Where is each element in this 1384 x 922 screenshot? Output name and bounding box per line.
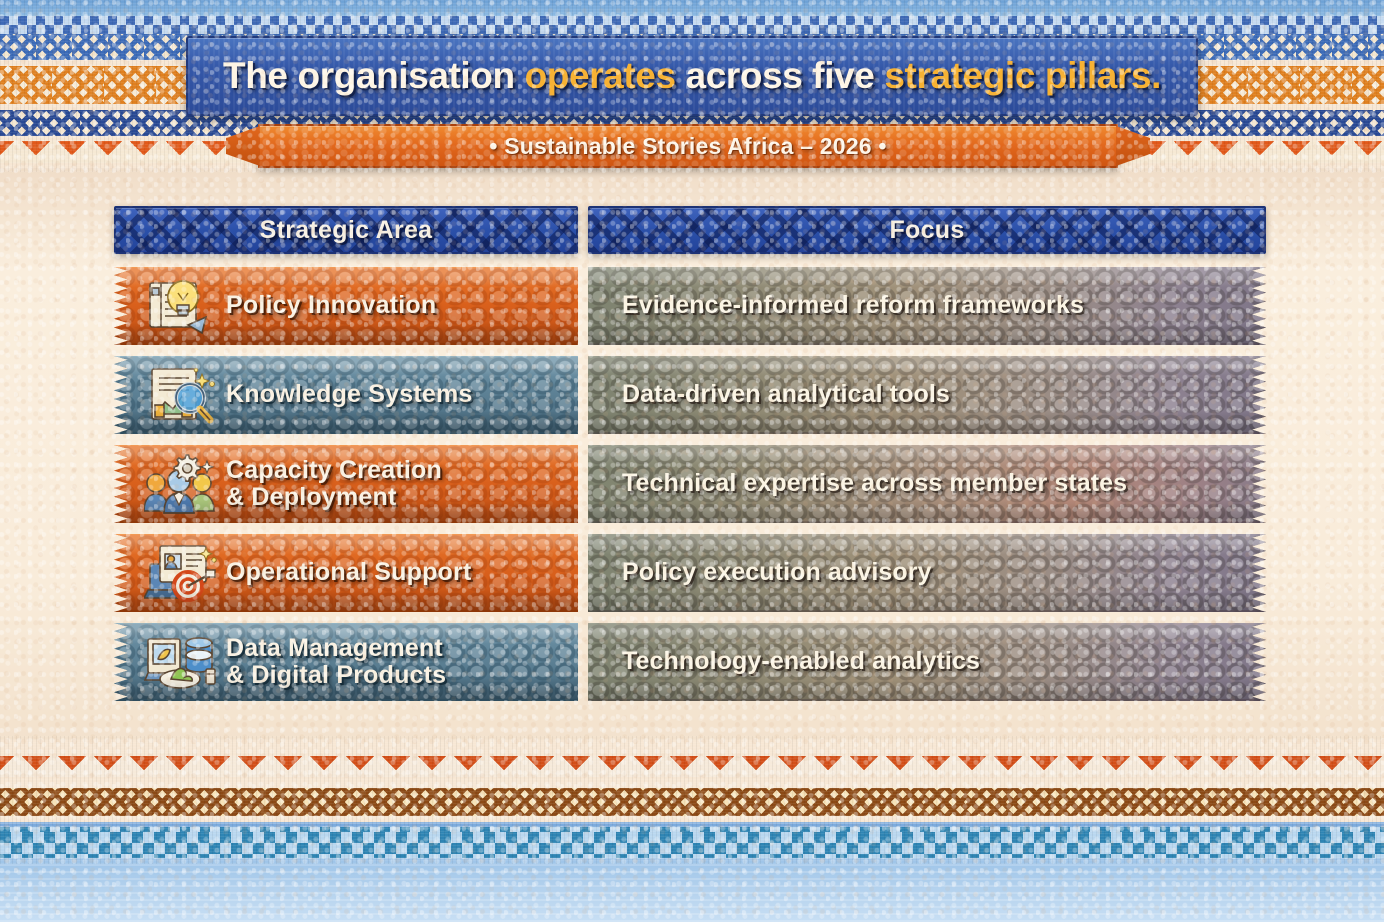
monitor-target-icon	[144, 542, 220, 604]
focus-cell-4[interactable]: Policy execution advisory	[588, 534, 1266, 612]
table-header-row: Strategic Area Focus	[114, 206, 1266, 254]
column-header-focus: Focus	[588, 206, 1266, 254]
focus-label: Policy execution advisory	[622, 558, 932, 587]
strategic-area-label-line1: Capacity Creation	[226, 457, 442, 483]
table-body: Policy InnovationEvidence-informed refor…	[114, 267, 1266, 701]
page-title-segment-1: operates	[525, 55, 676, 96]
focus-label: Technical expertise across member states	[622, 469, 1127, 498]
strategic-area-cell-2[interactable]: Knowledge Systems	[114, 356, 578, 434]
strategic-area-label: Policy Innovation	[226, 292, 436, 318]
people-gear-icon	[144, 453, 220, 515]
focus-cell-3[interactable]: Technical expertise across member states	[588, 445, 1266, 523]
pillars-table: Strategic Area Focus Policy InnovationEv…	[114, 206, 1266, 712]
document-lightbulb-icon	[144, 275, 220, 337]
slide-canvas: The organisation operates across five st…	[0, 0, 1384, 922]
focus-cell-2[interactable]: Data-driven analytical tools	[588, 356, 1266, 434]
table-row: Data Management& Digital ProductsTechnol…	[114, 623, 1266, 701]
strategic-area-label: Capacity Creation& Deployment	[226, 457, 442, 510]
ornament-band-diamond-blue	[0, 16, 1384, 34]
strategic-area-label-line1: Data Management	[226, 635, 446, 661]
column-header-strategic-area: Strategic Area	[114, 206, 578, 254]
focus-label: Technology-enabled analytics	[622, 647, 980, 676]
table-row: Capacity Creation& DeploymentTechnical e…	[114, 445, 1266, 523]
subtitle-banner: • Sustainable Stories Africa – 2026 •	[258, 124, 1118, 168]
subtitle-text: • Sustainable Stories Africa – 2026 •	[489, 133, 886, 160]
ornament-bottom-lightblue-line	[0, 736, 1384, 743]
ornament-bottom-triangles-orange	[0, 756, 1384, 777]
ornament-bottom-chevron-brown-gold	[0, 788, 1384, 816]
tablet-database-icon	[144, 631, 220, 693]
focus-cell-1[interactable]: Evidence-informed reform frameworks	[588, 267, 1266, 345]
focus-label: Data-driven analytical tools	[622, 380, 950, 409]
strategic-area-cell-4[interactable]: Operational Support	[114, 534, 578, 612]
focus-cell-5[interactable]: Technology-enabled analytics	[588, 623, 1266, 701]
strategic-area-cell-3[interactable]: Capacity Creation& Deployment	[114, 445, 578, 523]
focus-label: Evidence-informed reform frameworks	[622, 291, 1084, 320]
title-banner: The organisation operates across five st…	[186, 36, 1198, 116]
page-title-segment-0: The organisation	[223, 55, 525, 96]
footer-blue-line	[0, 858, 1384, 864]
page-title-segment-2: across five	[676, 55, 885, 96]
column-header-focus-label: Focus	[889, 216, 964, 245]
strategic-area-label: Knowledge Systems	[226, 381, 473, 407]
strategic-area-label: Operational Support	[226, 559, 471, 585]
strategic-area-cell-1[interactable]: Policy Innovation	[114, 267, 578, 345]
strategic-area-label-line2: & Deployment	[226, 484, 442, 510]
column-header-strategic-area-label: Strategic Area	[260, 216, 433, 245]
ornament-bottom-blue-line	[0, 743, 1384, 751]
page-title-segment-3: strategic pillars.	[884, 55, 1161, 96]
strategic-area-label: Data Management& Digital Products	[226, 635, 446, 688]
table-row: Operational SupportPolicy execution advi…	[114, 534, 1266, 612]
table-row: Knowledge SystemsData-driven analytical …	[114, 356, 1266, 434]
strategic-area-cell-5[interactable]: Data Management& Digital Products	[114, 623, 578, 701]
ornament-band-solid-blue	[0, 0, 1384, 16]
page-title: The organisation operates across five st…	[209, 55, 1175, 97]
document-magnifier-icon	[144, 364, 220, 426]
bottom-ornament-border	[0, 736, 1384, 832]
strategic-area-label-line2: & Digital Products	[226, 662, 446, 688]
table-row: Policy InnovationEvidence-informed refor…	[114, 267, 1266, 345]
footer-diamond-band	[0, 832, 1384, 858]
